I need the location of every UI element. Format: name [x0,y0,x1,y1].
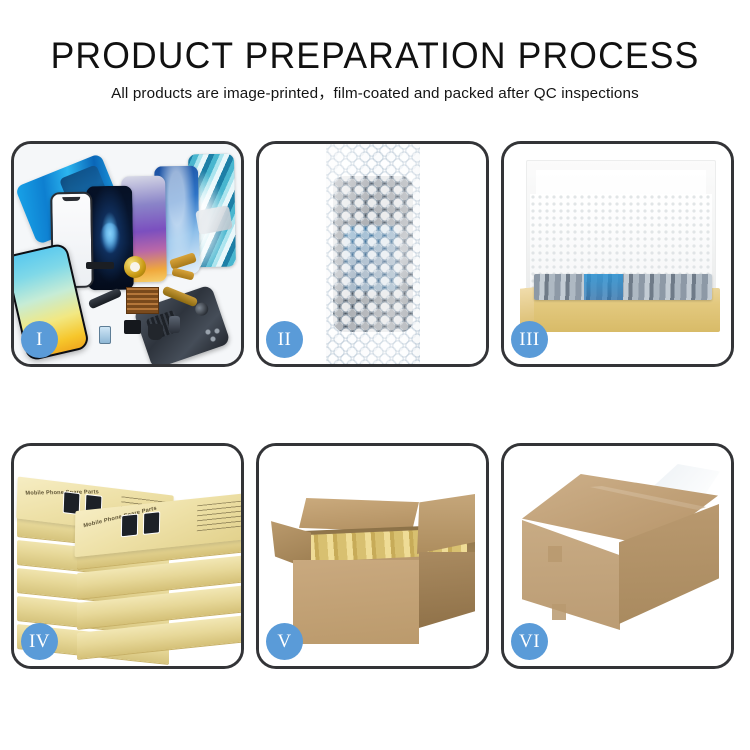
film-gloss-highlight [326,144,420,364]
carton-side-panel [419,552,475,628]
speaker-part [148,324,163,340]
product-preparation-process-page: PRODUCT PREPARATION PROCESS All products… [0,0,750,750]
product-thumbnail [121,513,138,537]
step-badge-4: IV [21,623,58,660]
bubble-wrap-sheet [326,144,420,364]
step-badge-1: I [21,321,58,358]
header: PRODUCT PREPARATION PROCESS All products… [0,34,750,104]
packed-screens-row [534,274,712,300]
carton-tab-upper [548,546,562,562]
retail-box-product-thumbnails [121,511,160,537]
copper-mesh-part [126,287,159,314]
step-badge-6: VI [511,623,548,660]
kraft-box-tray [524,288,720,332]
ic-chip-part [124,320,141,334]
step-panel-2: II [256,141,489,367]
step-badge-3: III [511,321,548,358]
step-panel-4: Mobile Phone Spare Parts Mobile Phone Sp… [11,443,244,669]
step-panel-3: III [501,141,734,367]
page-subtitle: All products are image-printed，film-coat… [0,84,750,104]
process-steps-grid: I II III [11,141,739,669]
carton-front-panel [293,560,419,644]
page-title: PRODUCT PREPARATION PROCESS [15,34,735,78]
step-badge-2: II [266,321,303,358]
step-badge-5: V [266,623,303,660]
wireless-charging-coil-part [124,256,146,278]
sealed-carton-front [522,520,620,630]
screws-part [205,328,227,342]
ribbon-cable-part-1 [88,287,123,309]
carton-tab-lower [552,604,566,620]
carton-flap-back [299,498,419,532]
step-panel-5: V [256,443,489,669]
sim-tray-part [99,326,111,344]
retail-box-spec-lines [197,501,241,532]
product-thumbnail [143,511,160,535]
step-panel-1: I [11,141,244,367]
camera-module-part [169,316,180,333]
step-panel-6: VI [501,443,734,669]
flex-cable-part-1 [86,262,114,269]
